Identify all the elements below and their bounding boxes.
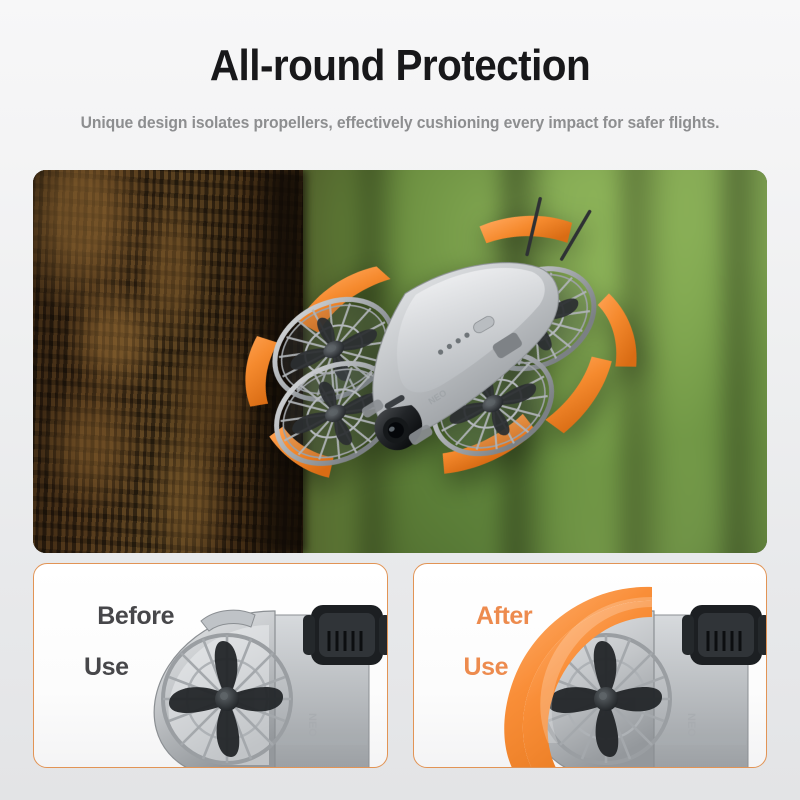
svg-text:NEO: NEO bbox=[306, 713, 318, 737]
header: All-round Protection Unique design isola… bbox=[0, 0, 800, 133]
panel-before-label: Before Use bbox=[58, 578, 174, 733]
panel-before-label-line2: Use bbox=[58, 655, 174, 681]
svg-text:NEO: NEO bbox=[685, 713, 697, 737]
panel-before-label-line1: Before bbox=[97, 602, 174, 630]
cage-art-after: NEO bbox=[502, 585, 767, 768]
page-title: All-round Protection bbox=[32, 44, 768, 88]
panel-before-use[interactable]: Before Use bbox=[33, 563, 388, 768]
panel-after-label: After Use bbox=[438, 578, 533, 733]
panel-after-label-line1: After bbox=[476, 602, 532, 630]
page-subtitle: Unique design isolates propellers, effec… bbox=[20, 114, 780, 133]
panel-after-use[interactable]: After Use bbox=[413, 563, 768, 768]
comparison-panels: Before Use bbox=[33, 563, 767, 768]
black-module bbox=[682, 605, 767, 665]
hero-image: NEO bbox=[33, 170, 767, 553]
panel-after-label-line2: Use bbox=[438, 655, 533, 681]
black-module bbox=[303, 605, 388, 665]
